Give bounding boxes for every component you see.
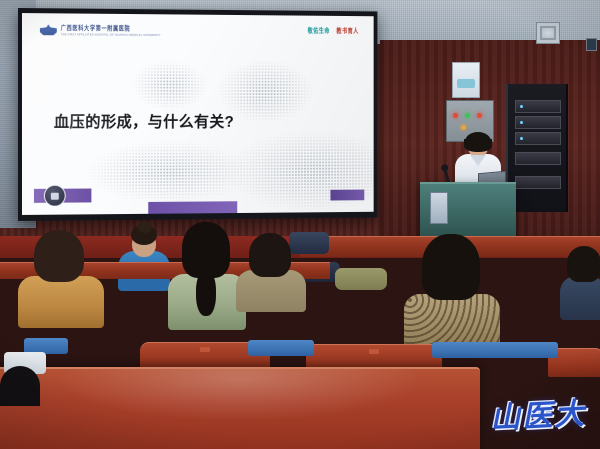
foreground-desk <box>0 367 480 449</box>
slide-logo-org-en: THE FIRST AFFILIATED HOSPITAL OF GUANGXI… <box>61 33 161 37</box>
rack-unit <box>515 116 561 129</box>
slide-tagline: 敬佑生命 教书育人 <box>308 25 359 36</box>
audience-jacket <box>18 276 104 328</box>
lectern-side-panel <box>430 192 448 224</box>
led-red-2 <box>477 113 482 118</box>
slide-accent-bar-middle <box>148 201 237 214</box>
projection-screen: 广西医科大学第一附属医院 THE FIRST AFFILIATED HOSPIT… <box>18 8 377 221</box>
audience-hair <box>249 233 291 277</box>
rack-unit <box>515 176 561 189</box>
led-green <box>465 113 470 118</box>
audience-member <box>560 246 600 316</box>
audience-member <box>236 236 306 310</box>
led-amber <box>461 125 466 130</box>
rack-unit <box>515 100 561 113</box>
monitor-badge-icon <box>44 185 66 207</box>
university-crest-icon <box>40 24 57 35</box>
seat-cushion[interactable] <box>432 342 558 358</box>
audience-member <box>404 238 500 350</box>
wall-socket-icon <box>586 38 597 51</box>
slide-logo-text: 广西医科大学第一附属医院 THE FIRST AFFILIATED HOSPIT… <box>61 24 161 36</box>
audience-member <box>168 224 246 328</box>
lectern <box>420 182 516 236</box>
slide-tagline-right: 教书育人 <box>336 25 358 35</box>
led-red-1 <box>453 113 458 118</box>
ceiling-air-vent-icon <box>536 22 560 44</box>
control-panel-led-row <box>453 113 482 118</box>
audience-hair <box>422 234 480 300</box>
slide-accent-bar-right <box>330 190 364 201</box>
watermark: 山医大 <box>489 389 587 438</box>
slide-tagline-left: 敬佑生命 <box>308 25 330 35</box>
lecture-hall-photo: 广西医科大学第一附属医院 THE FIRST AFFILIATED HOSPIT… <box>0 0 600 449</box>
audience-hair-bun <box>138 221 152 233</box>
presenter-hair <box>465 132 491 151</box>
slide-surface: 广西医科大学第一附属医院 THE FIRST AFFILIATED HOSPIT… <box>22 13 374 215</box>
rack-unit <box>515 132 561 145</box>
slide-logo: 广西医科大学第一附属医院 THE FIRST AFFILIATED HOSPIT… <box>40 24 161 36</box>
rack-unit <box>515 152 561 165</box>
audience-ponytail <box>196 270 216 316</box>
audience-jacket <box>560 276 600 320</box>
framed-wall-picture <box>452 62 480 98</box>
bag-olive <box>335 268 387 290</box>
audience-member <box>18 232 104 324</box>
audience-hair <box>567 246 600 282</box>
foreground-person-shoulder <box>0 366 40 406</box>
seat-cushion[interactable] <box>248 340 314 356</box>
slide-title: 血压的形成，与什么有关? <box>54 110 234 132</box>
slide-logo-org-cn: 广西医科大学第一附属医院 <box>61 23 161 32</box>
audience-hair <box>34 230 84 282</box>
